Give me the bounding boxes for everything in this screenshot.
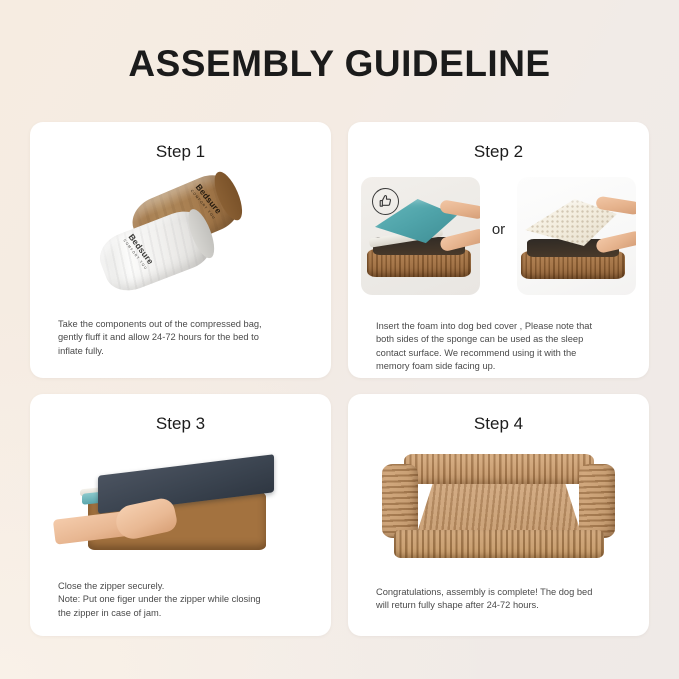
thumbs-up-icon bbox=[372, 188, 399, 215]
bed-backrest bbox=[404, 454, 594, 484]
step-card-1: Step 1 Bedsure COMFORT YOU Bedsure COMFO… bbox=[30, 122, 331, 378]
compressed-bags-illustration: Bedsure COMFORT YOU Bedsure COMFORT YOU bbox=[30, 174, 331, 314]
step-card-4: Step 4 Congratulations, assembly is comp… bbox=[348, 394, 649, 636]
bed-seat-cushion bbox=[416, 484, 582, 536]
steps-grid: Step 1 Bedsure COMFORT YOU Bedsure COMFO… bbox=[30, 122, 649, 636]
step-3-title: Step 3 bbox=[30, 413, 331, 435]
step-2-title: Step 2 bbox=[348, 141, 649, 163]
assembly-guideline-page: ASSEMBLY GUIDELINE Step 1 Bedsure COMFOR… bbox=[0, 0, 679, 679]
step-2-body: Insert the foam into dog bed cover , Ple… bbox=[376, 320, 631, 374]
bed-arm-right bbox=[579, 464, 615, 538]
foam-insertion-illustration: or bbox=[361, 177, 636, 295]
step-card-3: Step 3 Close the zipper securely. Note: … bbox=[30, 394, 331, 636]
step-3-body: Close the zipper securely. Note: Put one… bbox=[58, 580, 313, 620]
zipper-closing-illustration bbox=[54, 452, 309, 567]
page-title: ASSEMBLY GUIDELINE bbox=[0, 42, 679, 86]
white-bag-brand-label: Bedsure COMFORT YOU bbox=[122, 232, 156, 271]
panel-memory-foam bbox=[517, 177, 636, 295]
step-4-title: Step 4 bbox=[348, 413, 649, 435]
finished-dog-bed-illustration bbox=[376, 450, 621, 572]
step-1-title: Step 1 bbox=[30, 141, 331, 163]
step-1-body: Take the components out of the compresse… bbox=[58, 318, 313, 358]
step-card-2: Step 2 bbox=[348, 122, 649, 378]
bed-arm-left bbox=[382, 464, 418, 538]
step-4-body: Congratulations, assembly is complete! T… bbox=[376, 586, 631, 613]
bed-front-edge bbox=[394, 530, 604, 558]
